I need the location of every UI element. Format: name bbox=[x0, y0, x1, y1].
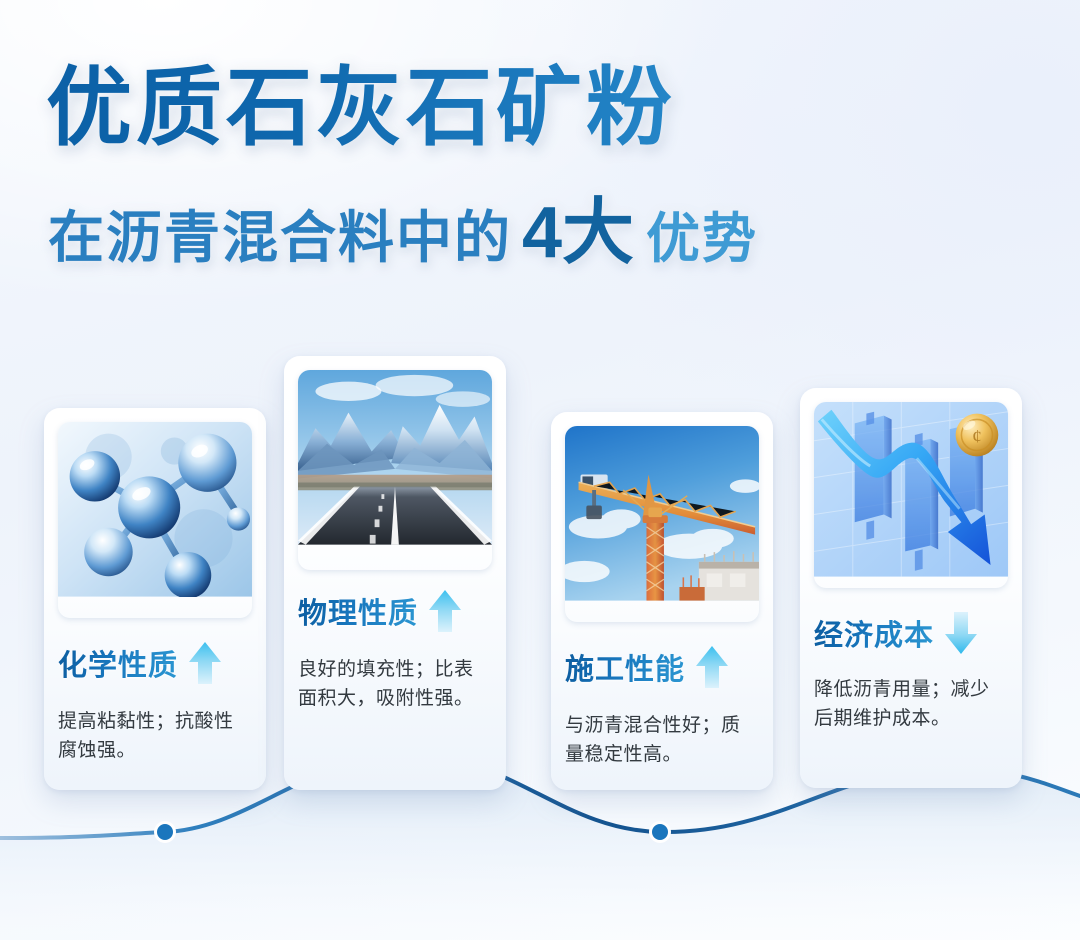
card-thumbnail bbox=[298, 370, 492, 570]
svg-text:¢: ¢ bbox=[972, 427, 982, 448]
molecule-spheres-image bbox=[58, 422, 252, 597]
feature-card-chemical[interactable]: 化学性质 提高粘黏性；抗酸性腐蚀强。 bbox=[44, 408, 266, 790]
subtitle-number: 4大 bbox=[522, 193, 634, 273]
card-title: 物理性质 bbox=[298, 590, 418, 632]
declining-chart-coin-image: ¢ bbox=[814, 402, 1008, 577]
card-description: 良好的填充性；比表面积大，吸附性强。 bbox=[298, 656, 492, 714]
feature-card-cost[interactable]: ¢ 经济成本 降低沥青用量；减少后期维护成本。 bbox=[800, 388, 1022, 788]
page-title: 优质石灰石矿粉 bbox=[0, 62, 1080, 155]
mountain-highway-image bbox=[298, 370, 492, 545]
subtitle-prefix: 在沥青混合料中的 bbox=[48, 206, 512, 269]
arrow-up-icon bbox=[188, 640, 222, 686]
card-header: 施工性能 bbox=[565, 644, 759, 690]
card-header: 物理性质 bbox=[298, 588, 492, 634]
subtitle-suffix: 优势 bbox=[646, 209, 758, 269]
card-header: 经济成本 bbox=[814, 610, 1008, 656]
card-thumbnail bbox=[58, 422, 252, 618]
card-thumbnail bbox=[565, 426, 759, 622]
construction-crane-image bbox=[565, 426, 759, 601]
headline-block: 优质石灰石矿粉 在沥青混合料中的4大优势 bbox=[0, 62, 1080, 278]
arrow-up-icon bbox=[695, 644, 729, 690]
card-header: 化学性质 bbox=[58, 640, 252, 686]
card-description: 与沥青混合性好；质量稳定性高。 bbox=[565, 712, 759, 770]
arrow-up-icon bbox=[428, 588, 462, 634]
arrow-down-icon bbox=[944, 610, 978, 656]
card-thumbnail: ¢ bbox=[814, 402, 1008, 588]
infographic-canvas: 优质石灰石矿粉 在沥青混合料中的4大优势 bbox=[0, 0, 1080, 940]
feature-card-construction[interactable]: 施工性能 与沥青混合性好；质量稳定性高。 bbox=[551, 412, 773, 790]
card-title: 经济成本 bbox=[814, 612, 934, 654]
page-subtitle: 在沥青混合料中的4大优势 bbox=[0, 173, 1080, 278]
card-title: 施工性能 bbox=[565, 646, 685, 688]
card-description: 提高粘黏性；抗酸性腐蚀强。 bbox=[58, 708, 252, 766]
card-title: 化学性质 bbox=[58, 642, 178, 684]
card-description: 降低沥青用量；减少后期维护成本。 bbox=[814, 676, 1008, 734]
feature-card-physical[interactable]: 物理性质 良好的填充性；比表面积大，吸附性强。 bbox=[284, 356, 506, 790]
